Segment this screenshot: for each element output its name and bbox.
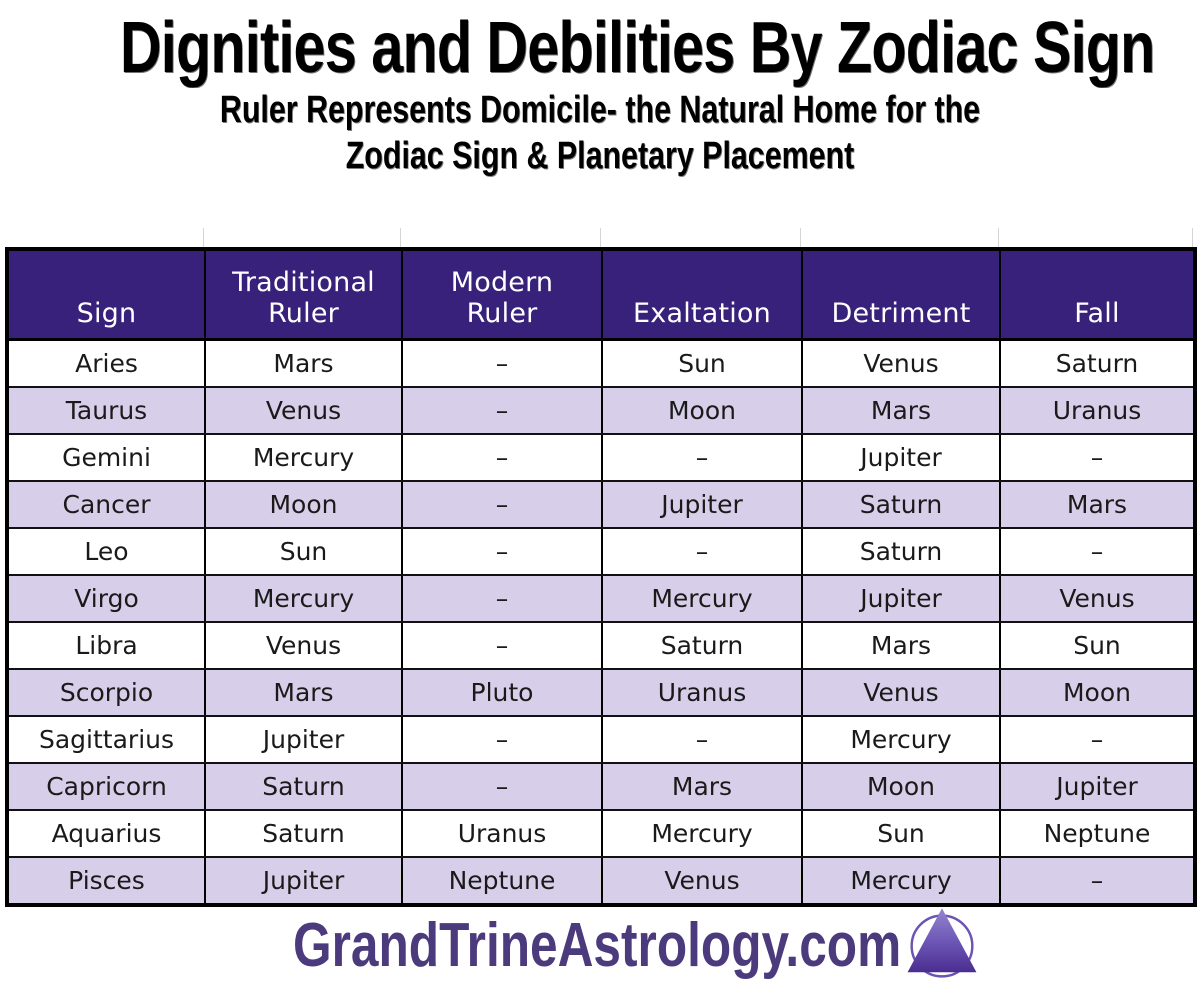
cell-exaltation: Mercury: [602, 575, 802, 622]
cell-detriment: Mercury: [802, 716, 1000, 763]
table-row: SagittariusJupiter––Mercury–: [7, 716, 1195, 763]
cell-sign: Gemini: [7, 434, 205, 481]
cell-traditional-ruler: Mercury: [205, 434, 402, 481]
page-header: Dignities and Debilities By Zodiac Sign …: [0, 0, 1200, 178]
dignities-table-container: Sign Traditional Ruler Modern Ruler Exal…: [5, 247, 1193, 907]
cell-sign: Taurus: [7, 387, 205, 434]
table-row: GeminiMercury––Jupiter–: [7, 434, 1195, 481]
column-header-detriment-line2: Detriment: [807, 298, 995, 329]
cell-detriment: Venus: [802, 340, 1000, 388]
cell-modern-ruler: –: [402, 340, 602, 388]
cell-traditional-ruler: Venus: [205, 387, 402, 434]
cell-modern-ruler: –: [402, 387, 602, 434]
cell-exaltation: Sun: [602, 340, 802, 388]
table-row: CapricornSaturn–MarsMoonJupiter: [7, 763, 1195, 810]
cell-modern-ruler: –: [402, 434, 602, 481]
column-header-sign-line2: Sign: [13, 298, 200, 329]
cell-sign: Leo: [7, 528, 205, 575]
page-subtitle-line-1: Ruler Represents Domicile- the Natural H…: [120, 88, 1080, 132]
column-header-traditional-ruler-line1: Traditional: [210, 267, 397, 298]
column-header-traditional-ruler: Traditional Ruler: [205, 249, 402, 340]
column-header-detriment: Detriment: [802, 249, 1000, 340]
cell-detriment: Mars: [802, 387, 1000, 434]
table-row: CancerMoon–JupiterSaturnMars: [7, 481, 1195, 528]
column-header-modern-ruler-line2: Ruler: [407, 298, 597, 329]
cell-modern-ruler: –: [402, 622, 602, 669]
table-row: LeoSun––Saturn–: [7, 528, 1195, 575]
cell-traditional-ruler: Jupiter: [205, 716, 402, 763]
column-header-sign: Sign: [7, 249, 205, 340]
dignities-table: Sign Traditional Ruler Modern Ruler Exal…: [5, 247, 1197, 907]
table-row: TaurusVenus–MoonMarsUranus: [7, 387, 1195, 434]
cell-exaltation: Mercury: [602, 810, 802, 857]
page-title: Dignities and Debilities By Zodiac Sign: [120, 8, 1080, 88]
cell-detriment: Jupiter: [802, 575, 1000, 622]
cell-sign: Capricorn: [7, 763, 205, 810]
cell-detriment: Saturn: [802, 528, 1000, 575]
cell-sign: Libra: [7, 622, 205, 669]
cell-fall: Venus: [1000, 575, 1195, 622]
cell-exaltation: Moon: [602, 387, 802, 434]
cell-fall: –: [1000, 716, 1195, 763]
cell-fall: Mars: [1000, 481, 1195, 528]
cell-fall: Saturn: [1000, 340, 1195, 388]
cell-fall: Neptune: [1000, 810, 1195, 857]
column-header-modern-ruler: Modern Ruler: [402, 249, 602, 340]
cell-traditional-ruler: Saturn: [205, 763, 402, 810]
cell-exaltation: Saturn: [602, 622, 802, 669]
column-header-exaltation-line2: Exaltation: [607, 298, 797, 329]
cell-modern-ruler: –: [402, 575, 602, 622]
table-header-row: Sign Traditional Ruler Modern Ruler Exal…: [7, 249, 1195, 340]
cell-exaltation: Jupiter: [602, 481, 802, 528]
cell-detriment: Jupiter: [802, 434, 1000, 481]
cell-exaltation: –: [602, 528, 802, 575]
column-header-fall-line2: Fall: [1005, 298, 1189, 329]
column-header-traditional-ruler-line2: Ruler: [210, 298, 397, 329]
cell-detriment: Mars: [802, 622, 1000, 669]
cell-sign: Scorpio: [7, 669, 205, 716]
cell-exaltation: –: [602, 716, 802, 763]
cell-modern-ruler: –: [402, 481, 602, 528]
cell-fall: Sun: [1000, 622, 1195, 669]
column-header-fall: Fall: [1000, 249, 1195, 340]
cell-fall: Moon: [1000, 669, 1195, 716]
cell-fall: –: [1000, 528, 1195, 575]
cell-traditional-ruler: Sun: [205, 528, 402, 575]
cell-fall: Jupiter: [1000, 763, 1195, 810]
cell-traditional-ruler: Mercury: [205, 575, 402, 622]
cell-sign: Aquarius: [7, 810, 205, 857]
cell-sign: Cancer: [7, 481, 205, 528]
cell-modern-ruler: –: [402, 528, 602, 575]
brand-wordmark: GrandTrineAstrology.com: [293, 913, 901, 979]
cell-detriment: Venus: [802, 669, 1000, 716]
cell-modern-ruler: Uranus: [402, 810, 602, 857]
cell-traditional-ruler: Mars: [205, 340, 402, 388]
cell-sign: Sagittarius: [7, 716, 205, 763]
cell-traditional-ruler: Mars: [205, 669, 402, 716]
cell-fall: Uranus: [1000, 387, 1195, 434]
cell-exaltation: –: [602, 434, 802, 481]
page-footer: GrandTrineAstrology.com: [0, 896, 1200, 996]
table-row: VirgoMercury–MercuryJupiterVenus: [7, 575, 1195, 622]
cell-modern-ruler: Pluto: [402, 669, 602, 716]
cell-sign: Aries: [7, 340, 205, 388]
triangle-in-circle-icon: [901, 903, 983, 989]
table-row: AriesMars–SunVenusSaturn: [7, 340, 1195, 388]
column-header-exaltation: Exaltation: [602, 249, 802, 340]
cell-sign: Virgo: [7, 575, 205, 622]
cell-exaltation: Mars: [602, 763, 802, 810]
cell-traditional-ruler: Venus: [205, 622, 402, 669]
table-body: AriesMars–SunVenusSaturnTaurusVenus–Moon…: [7, 340, 1195, 906]
cell-detriment: Moon: [802, 763, 1000, 810]
column-header-modern-ruler-line1: Modern: [407, 267, 597, 298]
table-row: ScorpioMarsPlutoUranusVenusMoon: [7, 669, 1195, 716]
cell-traditional-ruler: Moon: [205, 481, 402, 528]
table-row: AquariusSaturnUranusMercurySunNeptune: [7, 810, 1195, 857]
cell-exaltation: Uranus: [602, 669, 802, 716]
table-row: LibraVenus–SaturnMarsSun: [7, 622, 1195, 669]
cell-fall: –: [1000, 434, 1195, 481]
cell-detriment: Sun: [802, 810, 1000, 857]
cell-modern-ruler: –: [402, 763, 602, 810]
page-subtitle-line-2: Zodiac Sign & Planetary Placement: [120, 134, 1080, 178]
cell-modern-ruler: –: [402, 716, 602, 763]
cell-traditional-ruler: Saturn: [205, 810, 402, 857]
table-header-row-group: Sign Traditional Ruler Modern Ruler Exal…: [7, 249, 1195, 340]
cell-detriment: Saturn: [802, 481, 1000, 528]
